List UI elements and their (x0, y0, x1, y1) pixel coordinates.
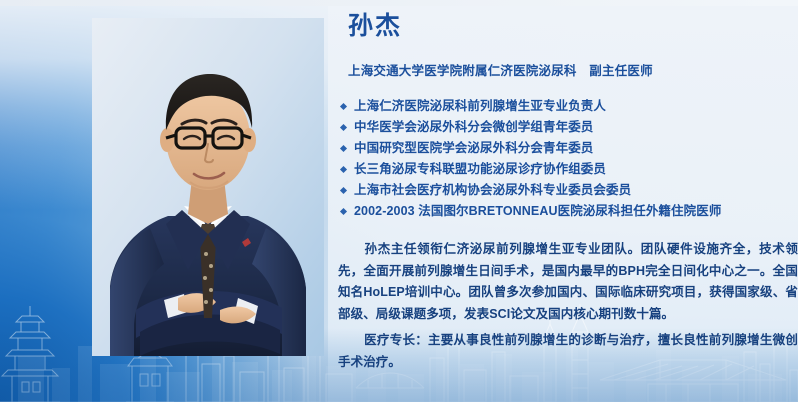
specialty-text: 医疗专长：主要从事良性前列腺增生的诊断与治疗，擅长良性前列腺增生微创手术治疗。 (338, 333, 798, 369)
diamond-bullet-icon (340, 166, 347, 173)
diamond-bullet-icon (340, 145, 347, 152)
doctor-portrait-photo (92, 18, 324, 356)
credentials-list: 上海仁济医院泌尿科前列腺增生亚专业负责人 中华医学会泌尿外科分会微创学组青年委员… (338, 96, 794, 222)
diamond-bullet-icon (340, 103, 347, 110)
list-item: 中国研究型医院学会泌尿外科分会青年委员 (338, 138, 794, 159)
list-item: 2002-2003 法国图尔BRETONNEAU医院泌尿科担任外籍住院医师 (338, 201, 794, 222)
credential-text: 长三角泌尿专科联盟功能泌尿诊疗协作组委员 (354, 162, 606, 176)
temple-landmark (126, 350, 174, 402)
pagoda-landmark (0, 306, 60, 402)
doctor-name: 孙杰 (348, 14, 402, 39)
list-item: 上海仁济医院泌尿科前列腺增生亚专业负责人 (338, 96, 794, 117)
doctor-profile-card: 孙杰 上海交通大学医学院附属仁济医院泌尿科 副主任医师 上海仁济医院泌尿科前列腺… (0, 0, 798, 402)
credential-text: 上海市社会医疗机构协会泌尿外科专业委员会委员 (354, 183, 631, 197)
diamond-bullet-icon (340, 124, 347, 131)
credential-text: 上海仁济医院泌尿科前列腺增生亚专业负责人 (354, 99, 606, 113)
credential-text: 2002-2003 法国图尔BRETONNEAU医院泌尿科担任外籍住院医师 (354, 204, 721, 218)
specialty-paragraph: 医疗专长：主要从事良性前列腺增生的诊断与治疗，擅长良性前列腺增生微创手术治疗。 (338, 330, 798, 373)
list-item: 长三角泌尿专科联盟功能泌尿诊疗协作组委员 (338, 159, 794, 180)
doctor-affiliation: 上海交通大学医学院附属仁济医院泌尿科 副主任医师 (348, 60, 653, 79)
diamond-bullet-icon (340, 187, 347, 194)
list-item: 中华医学会泌尿外科分会微创学组青年委员 (338, 117, 794, 138)
biography-text: 孙杰主任领衔仁济泌尿前列腺增生亚专业团队。团队硬件设施齐全，技术领先，全面开展前… (338, 242, 798, 321)
credential-text: 中华医学会泌尿外科分会微创学组青年委员 (354, 120, 593, 134)
diamond-bullet-icon (340, 208, 347, 215)
biography-paragraph: 孙杰主任领衔仁济泌尿前列腺增生亚专业团队。团队硬件设施齐全，技术领先，全面开展前… (338, 239, 798, 325)
list-item: 上海市社会医疗机构协会泌尿外科专业委员会委员 (338, 180, 794, 201)
profile-text-column: 孙杰 上海交通大学医学院附属仁济医院泌尿科 副主任医师 上海仁济医院泌尿科前列腺… (338, 0, 794, 402)
credential-text: 中国研究型医院学会泌尿外科分会青年委员 (354, 141, 593, 155)
